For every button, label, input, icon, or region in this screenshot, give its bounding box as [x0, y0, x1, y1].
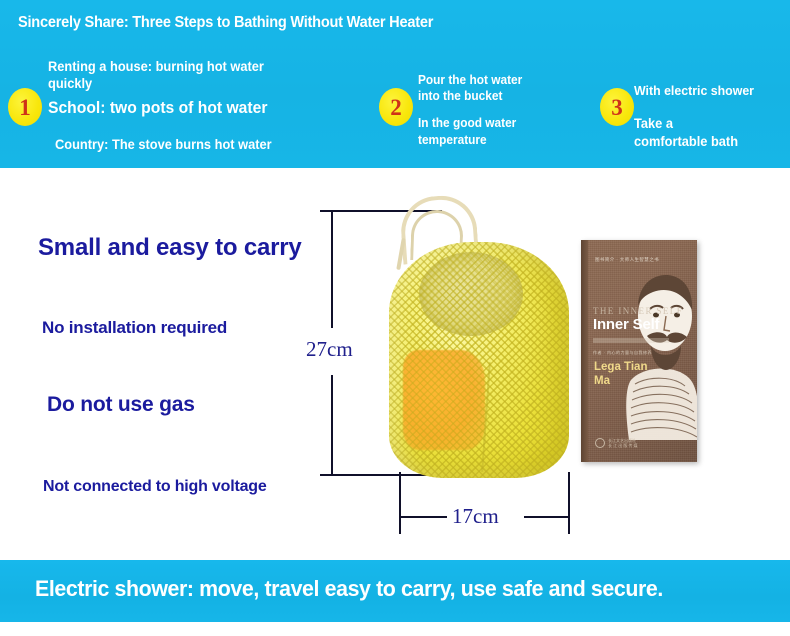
dimension-line-width-right: [568, 472, 570, 534]
dimension-arrow-width-left: [399, 516, 447, 518]
step-1-line-4: Country: The stove burns hot water: [55, 137, 272, 152]
book-chinese-subtitle: 图书简介 · 大师人生智慧之书: [595, 257, 659, 263]
dimension-arrow-width-right: [524, 516, 570, 518]
step-1-line-1: Renting a house: burning hot water: [48, 59, 264, 74]
page-title: Sincerely Share: Three Steps to Bathing …: [18, 14, 433, 32]
book-title-rule: [593, 338, 669, 343]
feature-text-2: No installation required: [42, 318, 227, 338]
book-cover-portrait-illustration: [623, 254, 697, 444]
step-3-line-2: Take a: [634, 116, 673, 131]
step-2-line-4: temperature: [418, 133, 487, 147]
step-2-line-1: Pour the hot water: [418, 73, 522, 87]
dimension-line-height-upper: [331, 210, 333, 328]
dimension-line-height-lower: [331, 375, 333, 475]
feature-text-4: Not connected to high voltage: [43, 478, 267, 496]
product-infographic: Sincerely Share: Three Steps to Bathing …: [0, 0, 790, 636]
book-byline: 作者 · 内心的力量与自我修养: [593, 350, 652, 356]
step-3-line-1: With electric shower: [634, 83, 754, 98]
publisher-logo: 长江文艺出版社 长 江 出 版 传 媒: [595, 438, 638, 448]
book-author: Lega Tian Ma: [594, 360, 647, 388]
step-badge-2: 2: [379, 88, 413, 126]
publisher-name: 长江文艺出版社 长 江 出 版 传 媒: [608, 438, 638, 448]
step-1-line-3: School: two pots of hot water: [48, 99, 267, 118]
step-badge-1: 1: [8, 88, 42, 126]
top-banner: Sincerely Share: Three Steps to Bathing …: [0, 0, 790, 168]
dimension-label-height: 27cm: [306, 337, 353, 362]
publisher-logo-mark-icon: [595, 438, 605, 448]
dimension-label-width: 17cm: [452, 504, 499, 529]
dimension-line-width-left: [399, 472, 401, 534]
step-1-line-2: quickly: [48, 76, 92, 91]
bottom-banner: Electric shower: move, travel easy to ca…: [0, 560, 790, 622]
mesh-bag-product-photo: [385, 196, 575, 480]
mesh-bag-body: [389, 242, 569, 478]
step-badge-3: 3: [600, 88, 634, 126]
feature-text-3: Do not use gas: [47, 393, 195, 417]
mesh-texture-overlay: [389, 242, 569, 478]
book-faint-title: THE INNER SELF: [593, 306, 683, 316]
book-spine: [581, 240, 588, 462]
step-3-line-3: comfortable bath: [634, 134, 738, 149]
book-title: Inner Self: [593, 316, 659, 333]
step-2-line-2: into the bucket: [418, 89, 502, 103]
step-2-line-3: In the good water: [418, 116, 516, 130]
reference-book: 图书简介 · 大师人生智慧之书 THE INNER SELF Inner Sel…: [581, 240, 697, 462]
bottom-banner-text: Electric shower: move, travel easy to ca…: [35, 576, 663, 602]
feature-text-1: Small and easy to carry: [38, 234, 302, 262]
